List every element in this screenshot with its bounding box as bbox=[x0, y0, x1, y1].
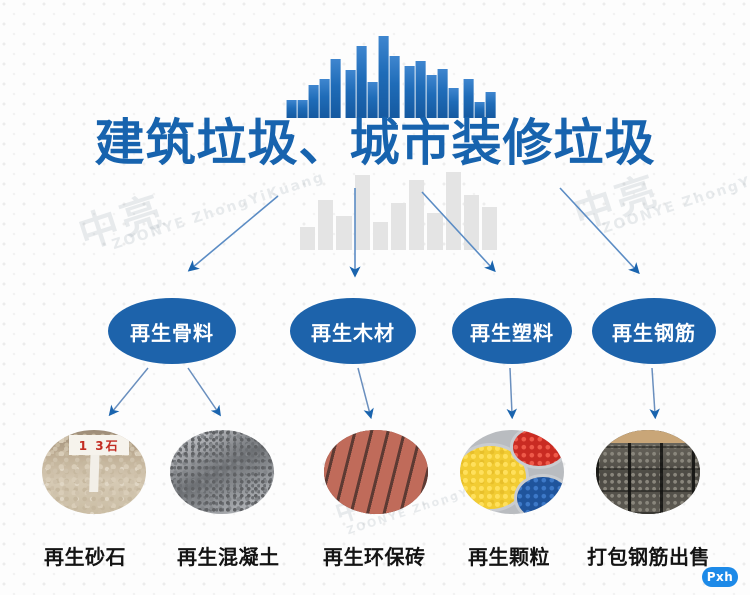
product-photo-brick bbox=[324, 430, 428, 514]
category-oval-plastic[interactable]: 再生塑料 bbox=[452, 298, 572, 364]
category-label-rebar: 再生钢筋 bbox=[612, 317, 696, 346]
skyline-bar bbox=[319, 79, 330, 118]
arrow-aggregate-to-concrete bbox=[188, 368, 218, 412]
skyline-bar bbox=[330, 59, 341, 118]
ghost-skyline-bar bbox=[464, 195, 479, 250]
skyline-bar-group bbox=[345, 36, 400, 118]
category-oval-rebar[interactable]: 再生钢筋 bbox=[592, 298, 716, 364]
ghost-skyline-bar bbox=[446, 172, 461, 250]
skyline-bar-group bbox=[286, 36, 341, 118]
skyline-bar bbox=[389, 56, 400, 118]
watermark-cn-left: 中亮 bbox=[70, 178, 172, 260]
arrow-wood-to-brick bbox=[358, 368, 370, 414]
product-photo-concrete bbox=[170, 430, 274, 514]
page-title: 建筑垃圾、城市装修垃圾 bbox=[0, 118, 750, 168]
skyline-bar bbox=[367, 82, 378, 118]
product-caption-pellet: 再生颗粒 bbox=[468, 541, 550, 570]
product-photo-sand: 1 3石 bbox=[42, 430, 146, 514]
skyline-bar bbox=[426, 75, 437, 118]
skyline-bar bbox=[378, 36, 389, 118]
plastic-pellet-image bbox=[460, 430, 564, 514]
sand-sign-label: 1 3石 bbox=[69, 435, 129, 455]
ghost-skyline-bar bbox=[391, 203, 406, 250]
category-label-plastic: 再生塑料 bbox=[470, 317, 554, 346]
skyline-bar-group bbox=[463, 36, 496, 118]
ghost-skyline-bar bbox=[409, 180, 424, 250]
skyline-bar-chart bbox=[286, 36, 502, 118]
skyline-bar bbox=[463, 79, 474, 118]
watermark-en-left: ZOONYE ZhongYiKuang bbox=[110, 169, 327, 253]
arrow-title-to-rebar bbox=[560, 188, 636, 270]
category-label-wood: 再生木材 bbox=[311, 317, 395, 346]
arrow-plastic-to-pellet bbox=[510, 368, 512, 414]
product-photo-bale bbox=[596, 430, 700, 514]
category-oval-wood[interactable]: 再生木材 bbox=[290, 298, 416, 364]
arrow-aggregate-to-sand bbox=[112, 368, 148, 412]
sand-gravel-image: 1 3石 bbox=[42, 430, 146, 514]
product-photo-pellet bbox=[460, 430, 564, 514]
ghost-skyline-bar bbox=[355, 175, 370, 250]
skyline-bar bbox=[415, 61, 426, 118]
product-caption-concrete: 再生混凝土 bbox=[177, 541, 280, 570]
ghost-skyline-bar bbox=[336, 216, 351, 250]
skyline-bar bbox=[404, 66, 415, 118]
product-caption-bale: 打包钢筋出售 bbox=[587, 541, 710, 570]
ghost-skyline-bar bbox=[318, 200, 333, 250]
paving-brick-image bbox=[324, 430, 428, 514]
category-oval-aggregate[interactable]: 再生骨料 bbox=[108, 298, 236, 364]
baled-rebar-image bbox=[596, 430, 700, 514]
ghost-skyline-bar bbox=[373, 222, 388, 250]
infographic-canvas: 中亮 ZOONYE ZhongYiKuang 中亮 ZOONYE ZhongYi… bbox=[0, 0, 750, 595]
ghost-skyline-bar bbox=[482, 207, 497, 250]
skyline-bar-group bbox=[404, 36, 459, 118]
ghost-skyline-bar bbox=[427, 213, 442, 250]
category-label-aggregate: 再生骨料 bbox=[130, 317, 214, 346]
concrete-aggregate-image bbox=[170, 430, 274, 514]
pxh-badge[interactable]: Pxh bbox=[702, 567, 738, 587]
skyline-bar bbox=[356, 46, 367, 118]
pellet-bin-red bbox=[510, 430, 564, 469]
arrow-title-to-aggregate bbox=[192, 196, 278, 268]
product-caption-sand: 再生砂石 bbox=[44, 541, 126, 570]
skyline-bar bbox=[345, 70, 356, 118]
skyline-bar bbox=[437, 69, 448, 118]
ghost-skyline-bar bbox=[300, 227, 315, 250]
arrow-rebar-to-bale bbox=[652, 368, 655, 414]
product-caption-brick: 再生环保砖 bbox=[323, 541, 426, 570]
skyline-ghost-silhouette bbox=[300, 172, 500, 250]
